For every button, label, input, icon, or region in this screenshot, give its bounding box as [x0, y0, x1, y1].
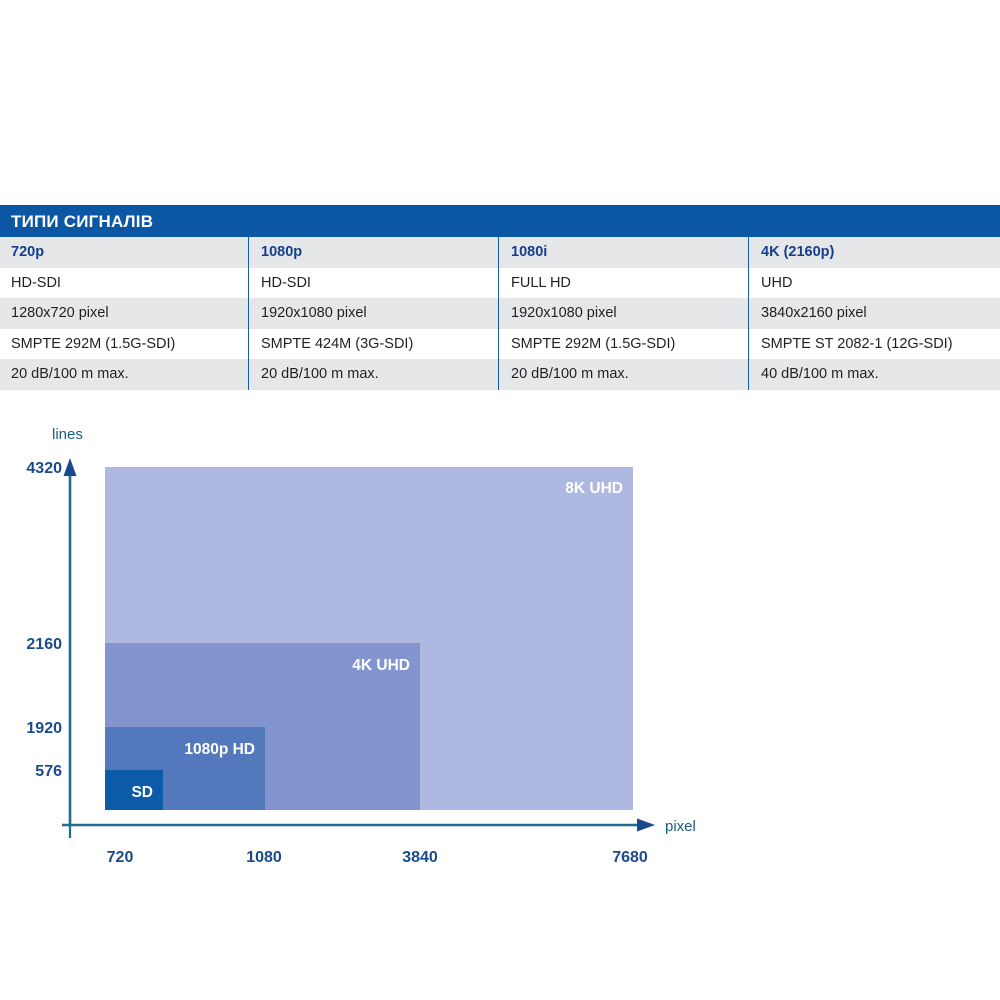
- cell-standard-4k: UHD: [750, 276, 1000, 291]
- cell-standard-1080i: FULL HD: [500, 276, 750, 291]
- resolution-comparison-chart: 8K UHD 4K UHD 1080p HD SD lines pixel 43…: [0, 400, 1000, 900]
- rect-label-8k-uhd: 8K UHD: [565, 480, 623, 497]
- x-axis-title: pixel: [665, 818, 696, 835]
- x-tick-label-7680: 7680: [612, 849, 648, 866]
- cell-attenuation-720p: 20 dB/100 m max.: [0, 367, 250, 382]
- cell-smpte-4k: SMPTE ST 2082-1 (12G-SDI): [750, 337, 1000, 352]
- y-tick-label-4320: 4320: [26, 460, 62, 477]
- cell-attenuation-4k: 40 dB/100 m max.: [750, 367, 1000, 382]
- rect-label-sd: SD: [131, 784, 153, 801]
- x-tick-label-720: 720: [107, 849, 134, 866]
- y-axis: [64, 458, 77, 825]
- cell-smpte-720p: SMPTE 292M (1.5G-SDI): [0, 337, 250, 352]
- cell-standard-720p: HD-SDI: [0, 276, 250, 291]
- y-axis-title: lines: [52, 426, 83, 443]
- cell-resolution-1080p: 1920x1080 pixel: [250, 306, 500, 321]
- column-divider-1: [248, 237, 249, 390]
- chart-rectangles: [105, 467, 633, 810]
- cell-resolution-1080i: 1920x1080 pixel: [500, 306, 750, 321]
- cell-name-720p: 720p: [0, 245, 250, 260]
- cell-resolution-720p: 1280x720 pixel: [0, 306, 250, 321]
- cell-name-1080p: 1080p: [250, 245, 500, 260]
- table-row: 20 dB/100 m max. 20 dB/100 m max. 20 dB/…: [0, 359, 1000, 390]
- chart-canvas: 8K UHD 4K UHD 1080p HD SD lines pixel 43…: [0, 400, 1000, 900]
- table-header-bar: ТИПИ СИГНАЛІВ: [0, 205, 1000, 237]
- cell-name-1080i: 1080i: [500, 245, 750, 260]
- rect-label-4k-uhd: 4K UHD: [352, 657, 410, 674]
- y-tick-label-576: 576: [35, 763, 62, 780]
- table-row: 1280x720 pixel 1920x1080 pixel 1920x1080…: [0, 298, 1000, 329]
- cell-smpte-1080p: SMPTE 424M (3G-SDI): [250, 337, 500, 352]
- x-tick-label-1080: 1080: [246, 849, 282, 866]
- table-title: ТИПИ СИГНАЛІВ: [11, 213, 153, 230]
- table-row: SMPTE 292M (1.5G-SDI) SMPTE 424M (3G-SDI…: [0, 329, 1000, 360]
- x-axis: [62, 814, 655, 838]
- cell-attenuation-1080i: 20 dB/100 m max.: [500, 367, 750, 382]
- table-row: HD-SDI HD-SDI FULL HD UHD: [0, 268, 1000, 299]
- cell-name-4k: 4K (2160p): [750, 245, 1000, 260]
- y-tick-label-1920: 1920: [26, 720, 62, 737]
- cell-standard-1080p: HD-SDI: [250, 276, 500, 291]
- cell-smpte-1080i: SMPTE 292M (1.5G-SDI): [500, 337, 750, 352]
- column-divider-2: [498, 237, 499, 390]
- x-tick-label-3840: 3840: [402, 849, 438, 866]
- y-tick-label-2160: 2160: [26, 636, 62, 653]
- cell-resolution-4k: 3840x2160 pixel: [750, 306, 1000, 321]
- table-row: 720p 1080p 1080i 4K (2160p): [0, 237, 1000, 268]
- column-divider-3: [748, 237, 749, 390]
- rect-label-1080p-hd: 1080p HD: [184, 741, 255, 758]
- signal-types-table: ТИПИ СИГНАЛІВ 720p 1080p 1080i 4K (2160p…: [0, 205, 1000, 390]
- table-body: 720p 1080p 1080i 4K (2160p) HD-SDI HD-SD…: [0, 237, 1000, 390]
- cell-attenuation-1080p: 20 dB/100 m max.: [250, 367, 500, 382]
